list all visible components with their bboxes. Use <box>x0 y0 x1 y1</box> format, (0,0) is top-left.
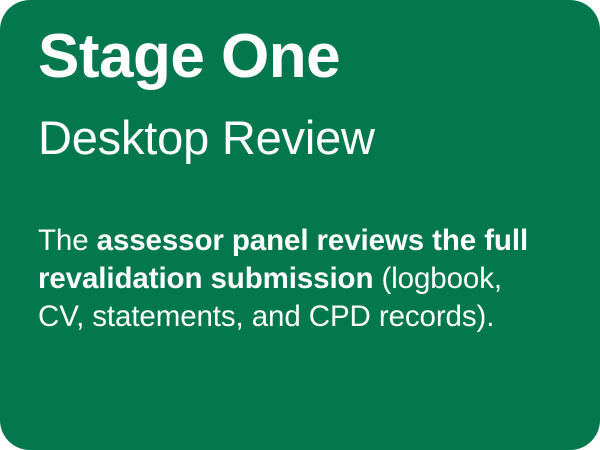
stage-description: The assessor panel reviews the full reva… <box>38 222 544 336</box>
stage-title: Stage One <box>38 24 340 91</box>
stage-subtitle: Desktop Review <box>38 112 375 165</box>
description-lead-text: The <box>38 224 97 257</box>
stage-one-card: Stage One Desktop Review The assessor pa… <box>0 0 600 450</box>
